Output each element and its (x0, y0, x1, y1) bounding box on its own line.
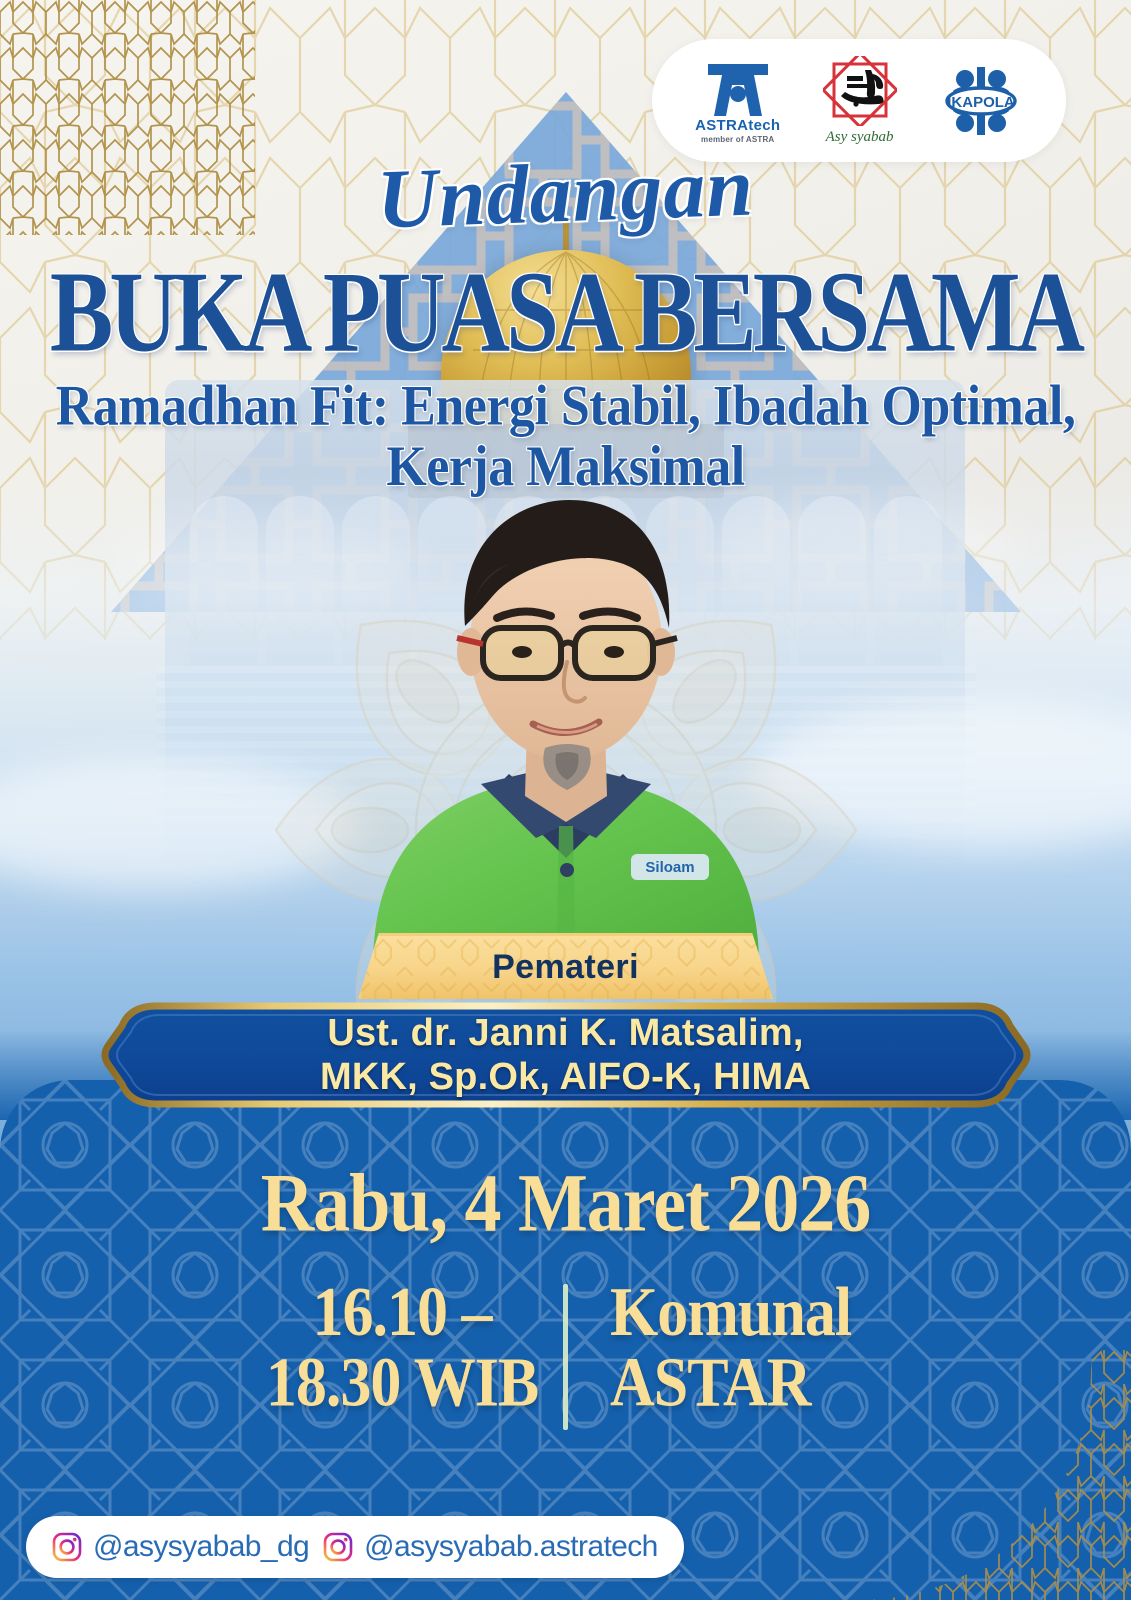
social-handles-bar: @asysyabab_dg @asysyabab.astratech (26, 1516, 684, 1578)
poster-root: Siloam (0, 0, 1131, 1600)
page-subtitle: Ramadhan Fit: Energi Stabil, Ibadah Opti… (52, 376, 1079, 497)
astra-tech-mark-icon (702, 58, 774, 116)
gold-corner-frame-top-left (0, 0, 178, 174)
speaker-name-line-2: MKK, Sp.Ok, AIFO-K, HIMA (320, 1055, 811, 1099)
speaker-portrait: Siloam (331, 466, 801, 966)
ikapola-logo-title: IKAPOLA (947, 94, 1015, 111)
page-title: BUKA PUASA BERSAMA (0, 258, 1131, 367)
ikapola-logo: IKAPOLA (939, 61, 1023, 141)
social-handle-text[interactable]: @asysyabab.astratech (364, 1530, 658, 1564)
subtitle-line-2: Kerja Maksimal (52, 437, 1079, 498)
svg-text:Siloam: Siloam (645, 859, 694, 876)
speaker-label-text: Pemateri (492, 948, 639, 987)
speaker-name-card: Ust. dr. Janni K. Matsalim, MKK, Sp.Ok, … (96, 996, 1036, 1114)
asy-syabab-logo: Asy syabab (823, 56, 897, 146)
event-time: 16.10 – 18.30 WIB (263, 1278, 563, 1420)
subtitle-line-1: Ramadhan Fit: Energi Stabil, Ibadah Opti… (52, 376, 1079, 437)
ikapola-people-diamond-mark-icon: IKAPOLA (939, 61, 1023, 141)
astratech-logo: ASTRAtech member of ASTRA (695, 58, 780, 144)
arabic-calligraphy-diamond-mark-icon (823, 56, 897, 126)
social-item[interactable]: @asysyabab.astratech (323, 1530, 658, 1564)
speaker-name-text: Ust. dr. Janni K. Matsalim, MKK, Sp.Ok, … (96, 996, 1036, 1114)
social-handle-text[interactable]: @asysyabab_dg (93, 1530, 309, 1564)
instagram-icon[interactable] (323, 1532, 353, 1562)
instagram-icon[interactable] (52, 1532, 82, 1562)
event-location: Komunal ASTAR (568, 1278, 868, 1420)
astratech-logo-title: ASTRAtech (695, 117, 780, 134)
speaker-name-line-1: Ust. dr. Janni K. Matsalim, (320, 1011, 811, 1055)
speaker-label-tab: Pemateri (358, 933, 773, 999)
event-date: Rabu, 4 Maret 2026 (0, 1162, 1131, 1245)
social-item[interactable]: @asysyabab_dg (52, 1530, 309, 1564)
event-time-place-row: 16.10 – 18.30 WIB Komunal ASTAR (0, 1278, 1131, 1430)
